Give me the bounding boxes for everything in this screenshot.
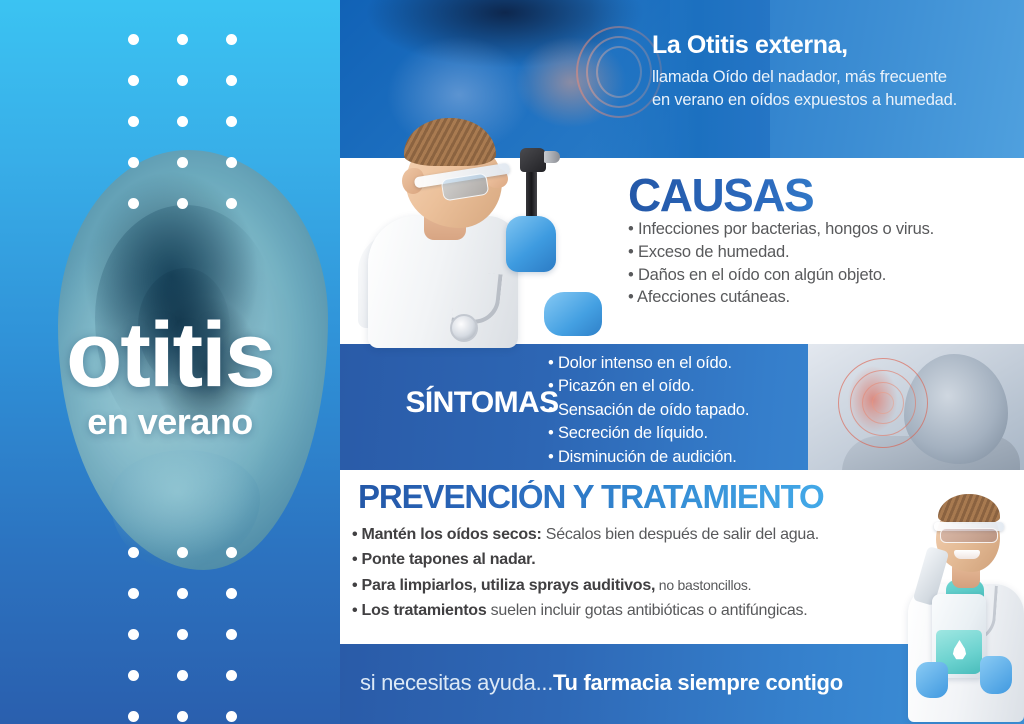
dot <box>177 588 188 599</box>
prevencion-list: • Mantén los oídos secos: Sécalos bien d… <box>352 522 912 623</box>
dot <box>226 157 237 168</box>
dot <box>177 75 188 86</box>
dot-pattern-top <box>128 34 237 209</box>
dot <box>128 711 139 722</box>
sound-ring-icon <box>872 392 894 414</box>
prevencion-item-bold: • Los tratamientos <box>352 602 486 619</box>
prevencion-title: PREVENCIÓN Y TRATAMIENTO <box>358 480 824 513</box>
causas-item: • Afecciones cutáneas. <box>628 286 1024 309</box>
prevencion-item-rest: suelen incluir gotas antibióticas o anti… <box>486 602 807 619</box>
causas-section: CAUSAS • Infecciones por bacterias, hong… <box>340 158 1024 344</box>
header-subtitle-line-1: llamada Oído del nadador, más frecuente <box>652 67 1012 89</box>
causas-item: • Exceso de humedad. <box>628 241 1024 264</box>
prevencion-item-rest: no bastoncillos. <box>655 577 751 593</box>
infographic-poster: otitis en verano <box>0 0 1024 724</box>
dot <box>226 629 237 640</box>
prevencion-section: PREVENCIÓN Y TRATAMIENTO • Mantén los oí… <box>340 470 1024 644</box>
dot <box>177 670 188 681</box>
brand-subtitle: en verano <box>0 401 340 443</box>
header-text-block: La Otitis externa, llamada Oído del nada… <box>652 32 1012 112</box>
doctor2-smile <box>954 550 980 559</box>
dot <box>177 157 188 168</box>
dot <box>226 34 237 45</box>
prevencion-item: • Mantén los oídos secos: Sécalos bien d… <box>352 522 912 547</box>
causas-title: CAUSAS <box>628 172 1024 218</box>
dot <box>226 75 237 86</box>
dot <box>177 198 188 209</box>
causas-text-block: CAUSAS • Infecciones por bacterias, hong… <box>628 172 1024 309</box>
otoscope-speculum-tip <box>544 151 560 163</box>
dot <box>128 157 139 168</box>
dot <box>226 116 237 127</box>
doctor2-hair <box>938 494 1000 524</box>
doctor-with-ear-spray-figure <box>898 488 1024 720</box>
dot-pattern-bottom <box>128 547 237 722</box>
prevencion-item: • Ponte tapones al nadar. <box>352 547 912 572</box>
dot <box>177 547 188 558</box>
prevencion-item-bold: • Para limpiarlos, utiliza sprays auditi… <box>352 577 655 594</box>
causas-item: • Infecciones por bacterias, hongos o vi… <box>628 218 1024 241</box>
brand-title: otitis <box>0 316 340 395</box>
left-brand-panel: otitis en verano <box>0 0 340 724</box>
prevencion-item-bold: • Mantén los oídos secos: <box>352 526 542 543</box>
prevencion-item: • Para limpiarlos, utiliza sprays auditi… <box>352 573 912 598</box>
dot <box>128 198 139 209</box>
dot <box>226 670 237 681</box>
header-title: La Otitis externa, <box>652 32 1012 60</box>
stethoscope-diaphragm <box>450 314 478 342</box>
doctor2-glasses-lens <box>940 528 998 543</box>
footer-text: si necesitas ayuda...Tu farmacia siempre… <box>360 670 920 696</box>
dot <box>128 116 139 127</box>
causas-item: • Daños en el oído con algún objeto. <box>628 264 1024 287</box>
elderly-man-ear-pain-photo <box>808 344 1024 470</box>
footer-lead: si necesitas ayuda... <box>360 670 553 695</box>
otoscope-head <box>520 148 546 172</box>
doctor-with-otoscope-figure <box>358 96 608 346</box>
dot <box>177 629 188 640</box>
dot <box>128 629 139 640</box>
dot <box>128 670 139 681</box>
dot <box>177 116 188 127</box>
prevencion-item-rest: Sécalos bien después de salir del agua. <box>542 526 819 543</box>
dot <box>128 34 139 45</box>
dot <box>177 34 188 45</box>
dot <box>128 547 139 558</box>
prevencion-item: • Los tratamientos suelen incluir gotas … <box>352 598 912 623</box>
prevencion-item-bold: • Ponte tapones al nadar. <box>352 551 535 568</box>
dot <box>226 588 237 599</box>
doctor2-glove-right <box>980 656 1012 694</box>
dot <box>177 711 188 722</box>
header-subtitle-line-2: en verano en oídos expuestos a humedad. <box>652 90 1012 112</box>
sintomas-section: SÍNTOMAS • Dolor intenso en el oído. • P… <box>340 344 1024 470</box>
doctor-glove-right <box>506 216 556 272</box>
dot <box>226 711 237 722</box>
brand-block: otitis en verano <box>0 316 340 443</box>
dot <box>128 588 139 599</box>
dot <box>226 198 237 209</box>
footer-tagline: Tu farmacia siempre contigo <box>553 670 843 695</box>
doctor-hair <box>404 118 496 166</box>
dot <box>128 75 139 86</box>
dot <box>226 547 237 558</box>
doctor2-glove-left <box>916 662 948 698</box>
doctor-glove-left <box>544 292 602 336</box>
